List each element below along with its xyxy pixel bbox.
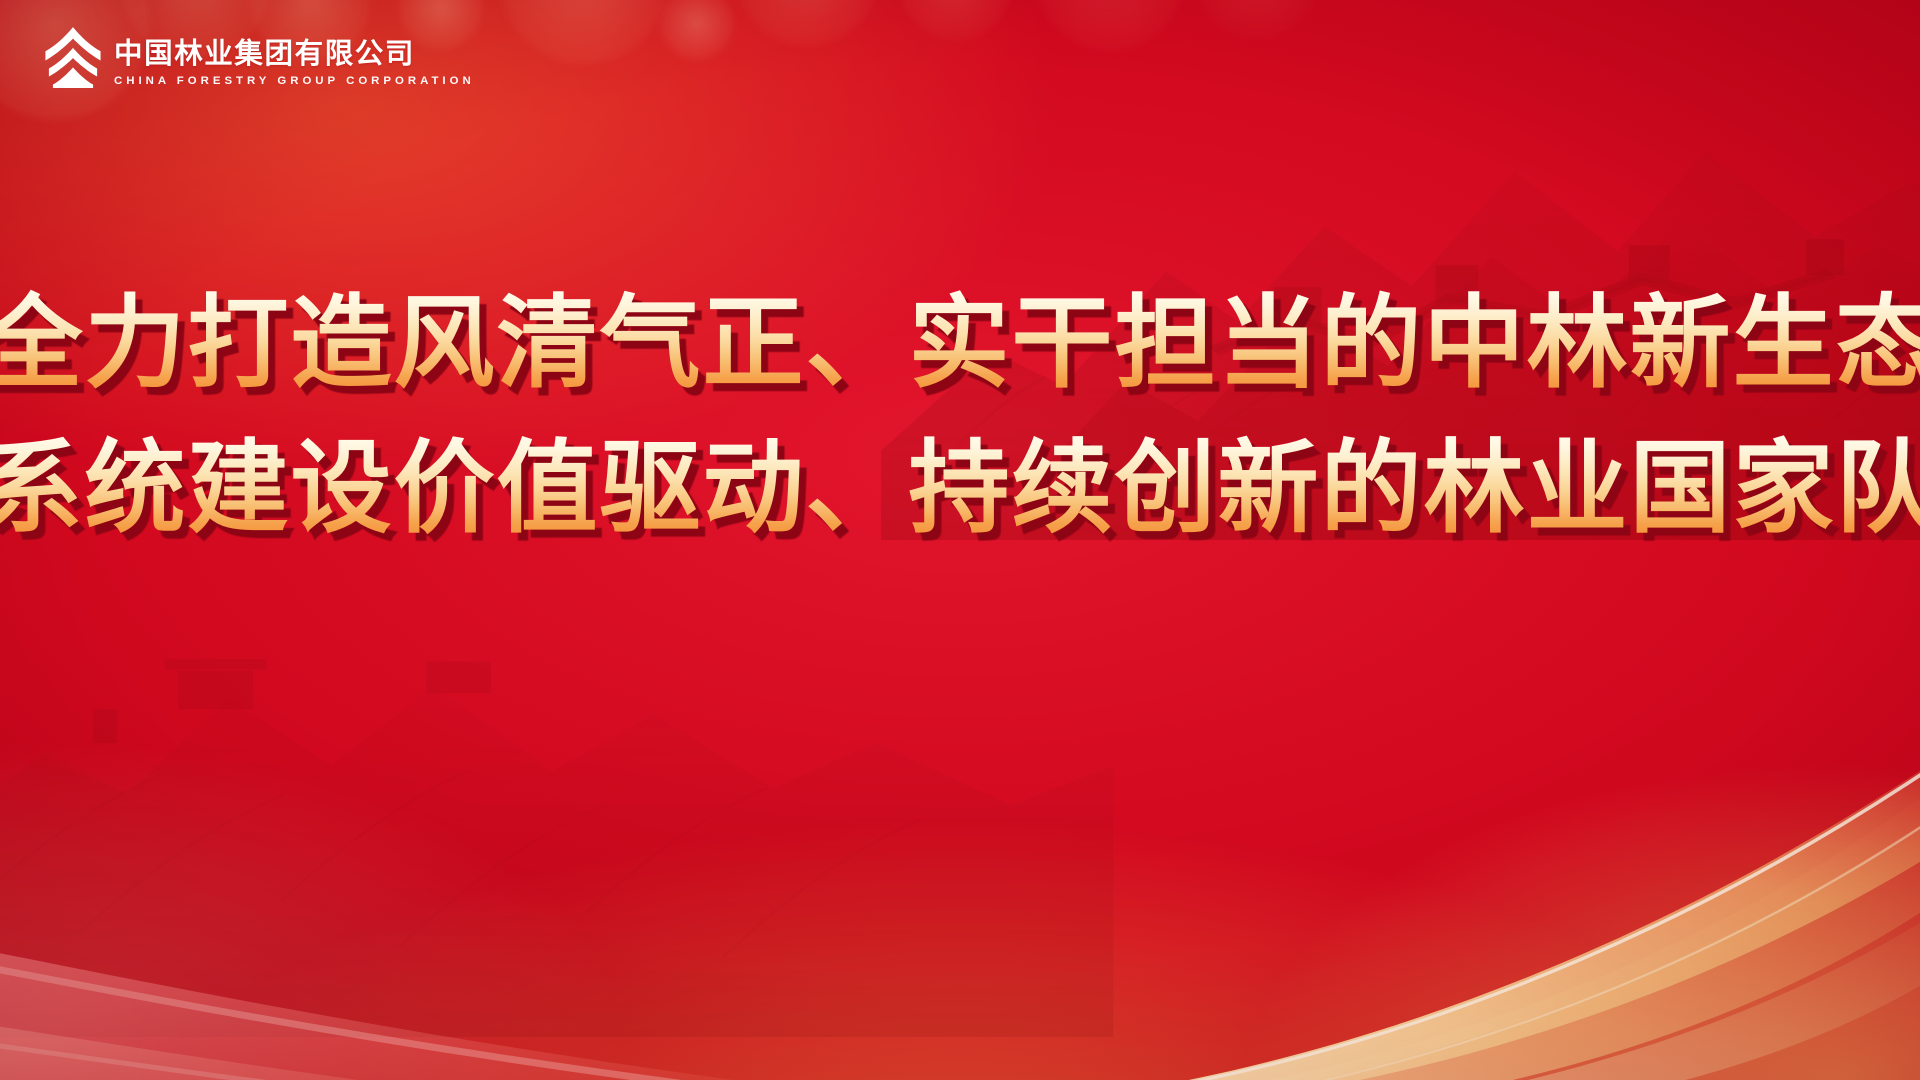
brand-name-cn: 中国林业集团有限公司: [114, 40, 475, 69]
headline-block: 全力打造风清气正、实干担当的中林新生态 全力打造风清气正、实干担当的中林新生态 …: [0, 286, 1920, 546]
headline-line-1: 全力打造风清气正、实干担当的中林新生态 全力打造风清气正、实干担当的中林新生态: [0, 286, 1920, 401]
headline-line-1-text: 全力打造风清气正、实干担当的中林新生态: [0, 284, 1920, 402]
brand-wordmark: 中国林业集团有限公司 CHINA FORESTRY GROUP CORPORAT…: [114, 40, 475, 88]
headline-line-2: 系统建设价值驱动、持续创新的林业国家队 系统建设价值驱动、持续创新的林业国家队: [0, 431, 1920, 546]
headline-line-2-text: 系统建设价值驱动、持续创新的林业国家队: [0, 429, 1920, 547]
banner-canvas: 中国林业集团有限公司 CHINA FORESTRY GROUP CORPORAT…: [0, 0, 1920, 1080]
brand-name-en: CHINA FORESTRY GROUP CORPORATION: [114, 76, 475, 87]
cfgc-pagoda-chevron-logo-icon: [44, 26, 102, 88]
gold-ribbon-decor: [768, 648, 1920, 1080]
brand-logo[interactable]: 中国林业集团有限公司 CHINA FORESTRY GROUP CORPORAT…: [44, 26, 475, 88]
